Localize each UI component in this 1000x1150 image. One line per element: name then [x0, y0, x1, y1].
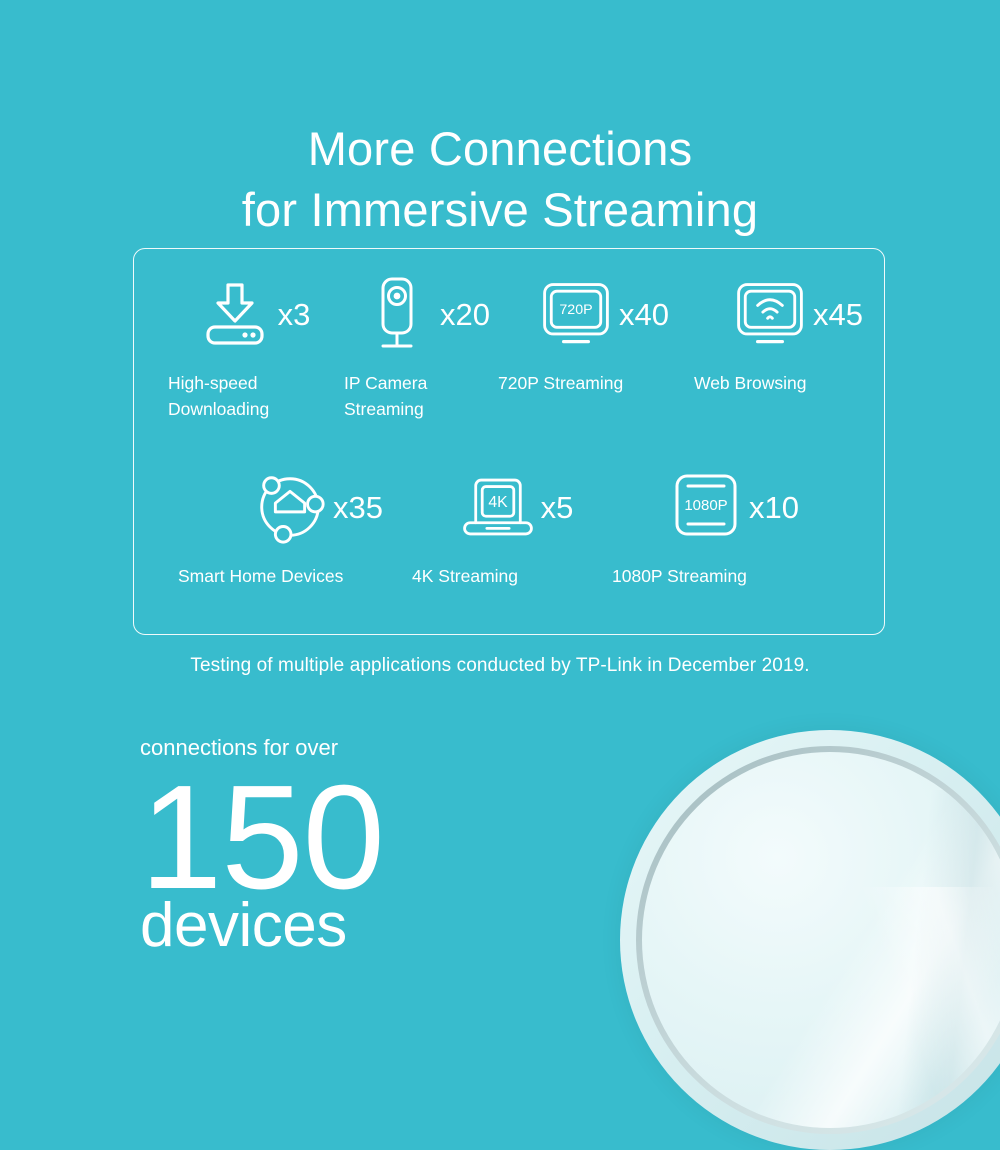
features-row-1: x3 High-speed Downloading x20 IP Camer — [134, 271, 886, 423]
device-shadow-ring — [636, 746, 1000, 1134]
monitor-wifi-icon — [731, 273, 809, 355]
feature-item-high-speed-downloading: x3 High-speed Downloading — [134, 271, 330, 423]
feature-icon-and-multiplier: 720P x40 — [523, 271, 669, 357]
product-device-image — [620, 730, 1000, 1150]
smart-home-network-icon — [251, 466, 329, 548]
feature-multiplier: x35 — [333, 492, 383, 523]
device-highlight-secondary — [755, 790, 1000, 1128]
feature-label: 1080P Streaming — [612, 564, 747, 590]
feature-multiplier: x40 — [619, 299, 669, 330]
tablet-screen-text: 1080P — [684, 497, 727, 514]
footnote-text: Testing of multiple applications conduct… — [0, 655, 1000, 677]
feature-multiplier: x5 — [541, 492, 574, 523]
feature-item-ip-camera-streaming: x20 IP Camera Streaming — [330, 271, 498, 423]
feature-label: High-speed Downloading — [168, 371, 269, 423]
download-router-icon — [196, 273, 274, 355]
feature-item-1080p-streaming: 1080P x10 1080P Streaming — [608, 464, 838, 590]
feature-item-4k-streaming: 4K x5 4K Streaming — [412, 464, 608, 590]
device-top-face — [642, 752, 1000, 1128]
feature-label: IP Camera Streaming — [344, 371, 427, 423]
feature-multiplier: x20 — [440, 299, 490, 330]
feature-item-720p-streaming: 720P x40 720P Streaming — [498, 271, 694, 397]
features-row-2: x35 Smart Home Devices 4K x5 4K Streami — [134, 464, 886, 590]
feature-icon-and-multiplier: x3 — [154, 271, 311, 357]
device-highlight-tertiary — [838, 887, 1000, 1128]
feature-icon-and-multiplier: x20 — [338, 271, 490, 357]
feature-icon-and-multiplier: x45 — [717, 271, 863, 357]
laptop-4k-icon: 4K — [459, 466, 537, 548]
device-highlight-primary — [694, 752, 1000, 1128]
monitor-720p-icon: 720P — [537, 273, 615, 355]
feature-icon-and-multiplier: 1080P x10 — [647, 464, 799, 550]
stat-block: connections for over 150 devices — [140, 735, 384, 957]
feature-icon-and-multiplier: x35 — [163, 464, 383, 550]
monitor-screen-text: 720P — [559, 302, 592, 318]
feature-label: 720P Streaming — [498, 371, 623, 397]
page-title: More Connections for Immersive Streaming — [0, 119, 1000, 240]
headline-line-2: for Immersive Streaming — [0, 180, 1000, 241]
feature-label: 4K Streaming — [412, 564, 518, 590]
stat-number: 150 — [140, 767, 384, 909]
headline-line-1: More Connections — [308, 122, 693, 175]
ip-camera-icon — [358, 273, 436, 355]
feature-icon-and-multiplier: 4K x5 — [447, 464, 574, 550]
feature-item-web-browsing: x45 Web Browsing — [694, 271, 886, 397]
device-outer-rim — [620, 730, 1000, 1150]
laptop-screen-text: 4K — [488, 494, 508, 511]
feature-multiplier: x3 — [278, 299, 311, 330]
feature-multiplier: x10 — [749, 492, 799, 523]
tablet-1080p-icon: 1080P — [667, 466, 745, 548]
feature-label: Smart Home Devices — [178, 564, 343, 590]
feature-item-smart-home-devices: x35 Smart Home Devices — [134, 464, 412, 590]
feature-label: Web Browsing — [694, 371, 807, 397]
features-card: x3 High-speed Downloading x20 IP Camer — [133, 248, 885, 635]
feature-multiplier: x45 — [813, 299, 863, 330]
